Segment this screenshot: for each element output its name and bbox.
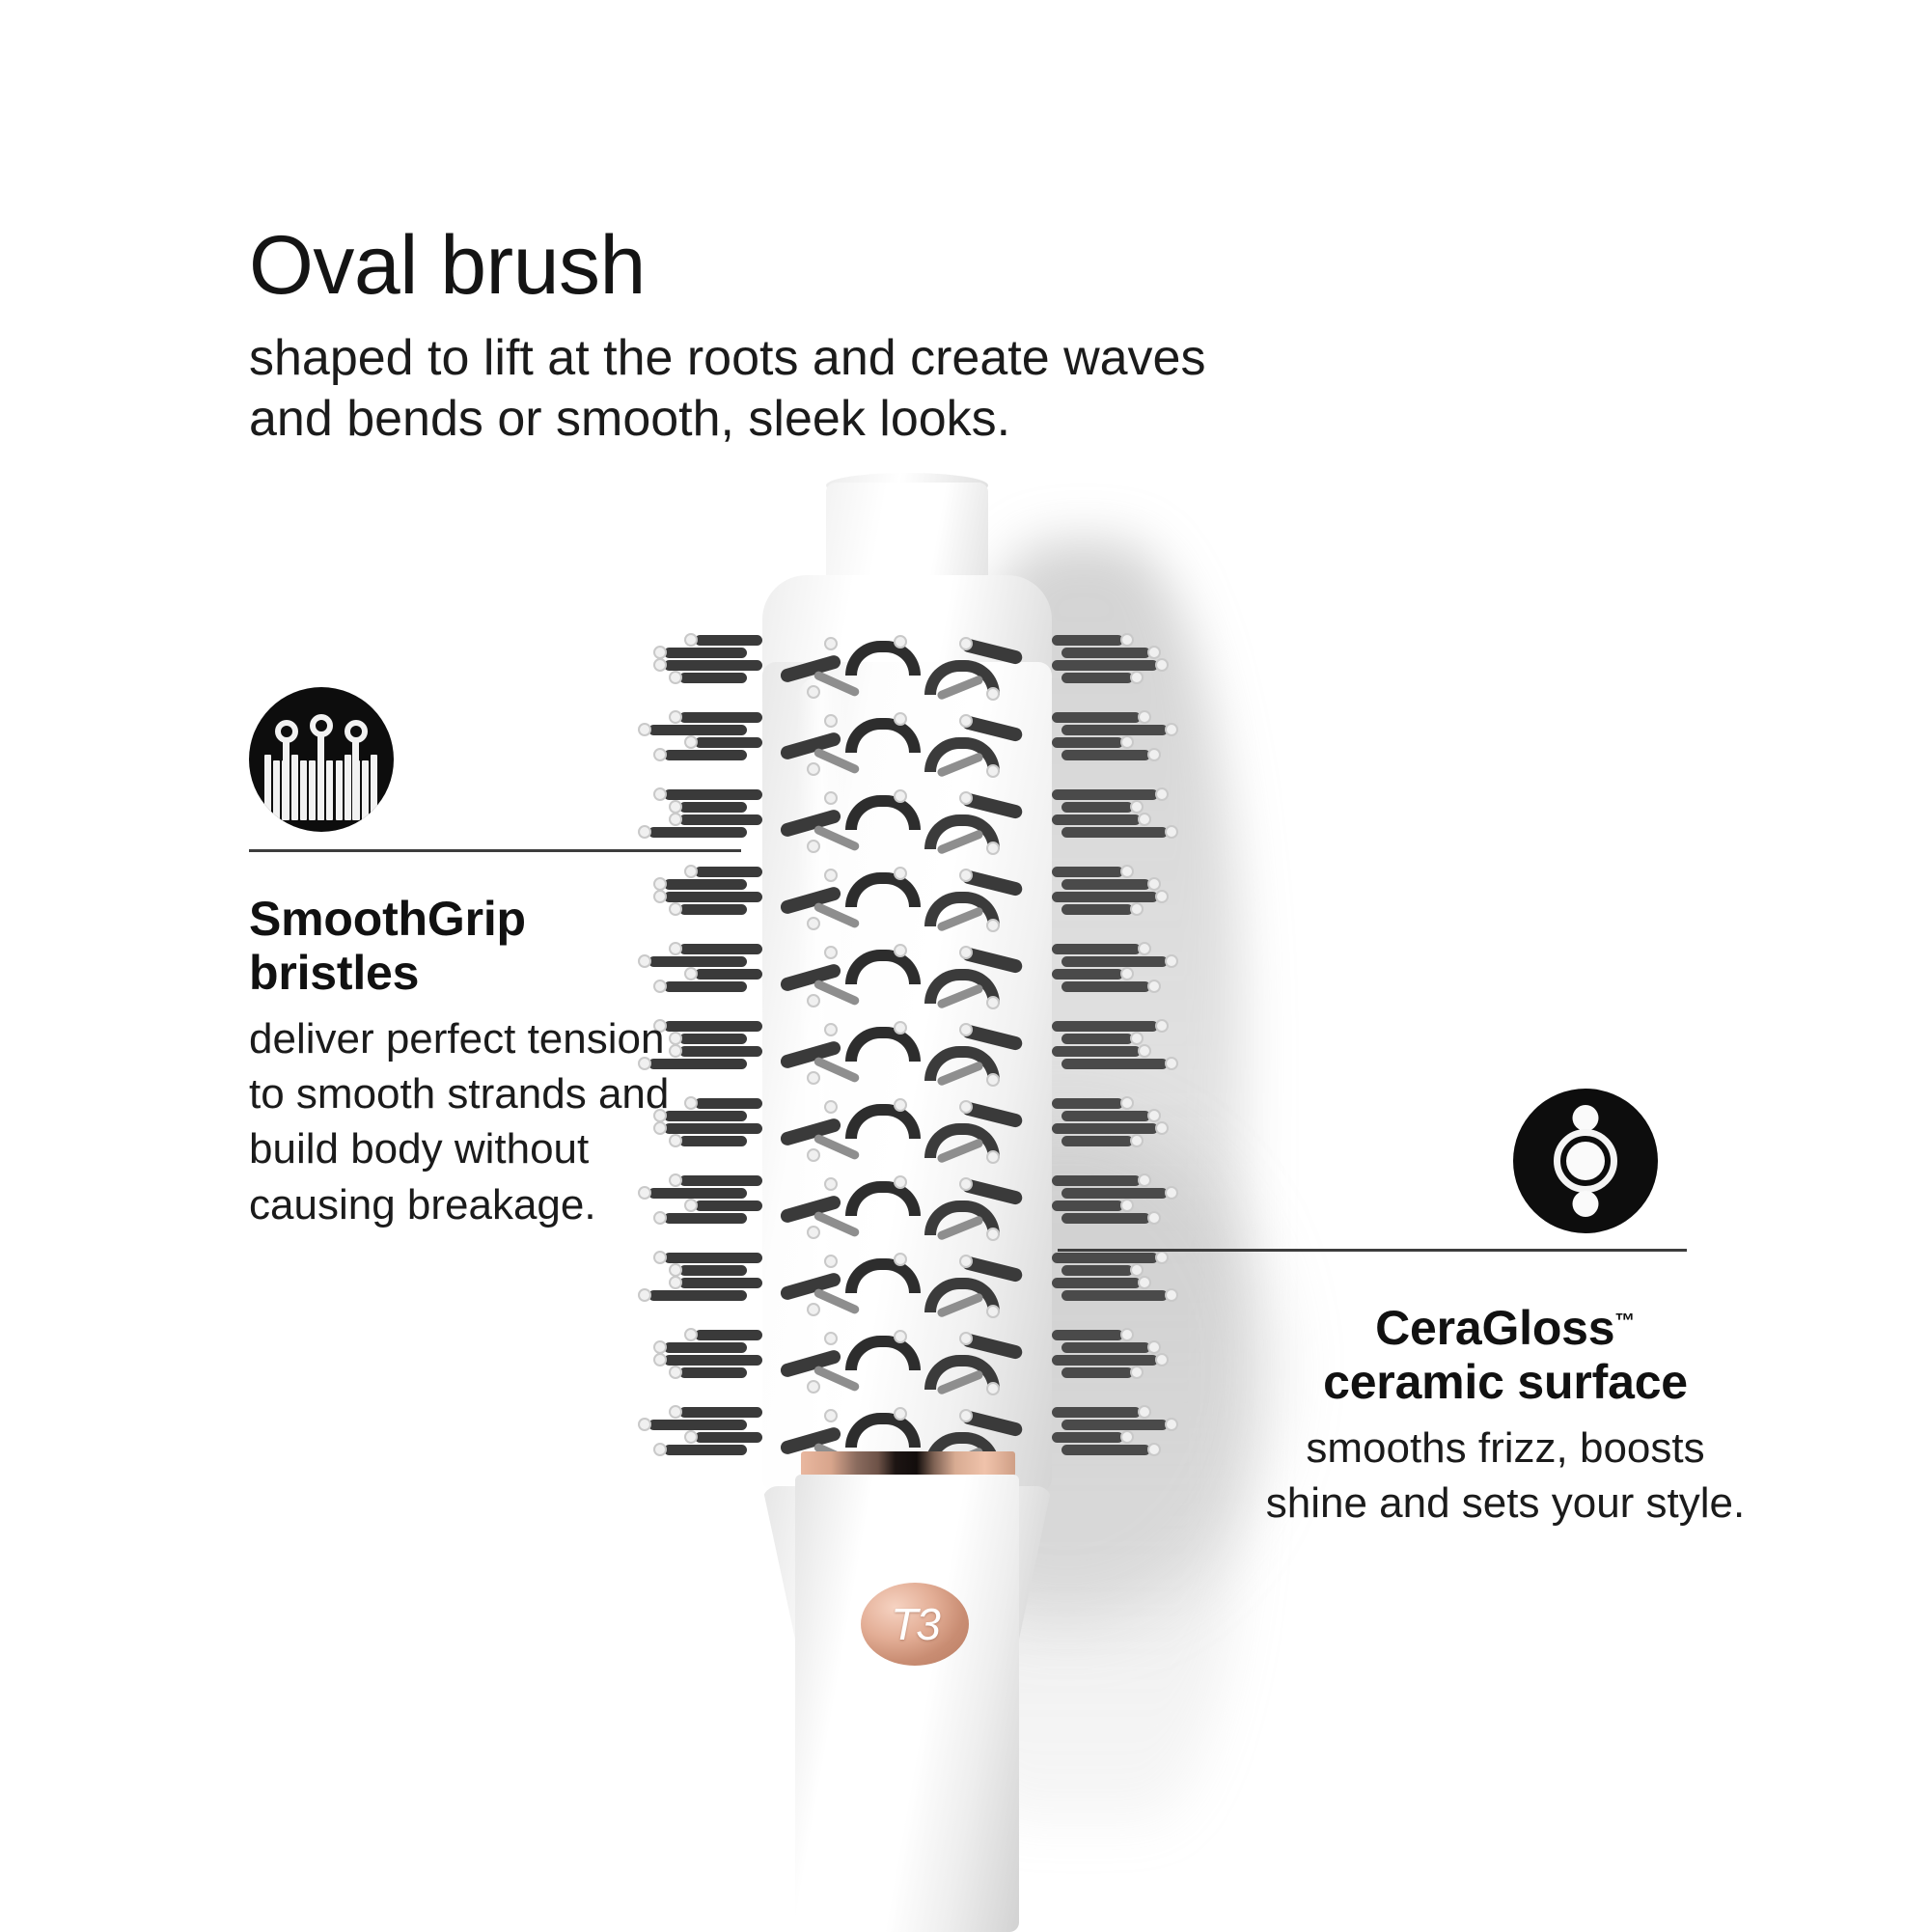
bristle-icon-pin-stem: [317, 731, 324, 820]
bristle-element: [669, 1405, 682, 1419]
bristle-element: [1165, 1418, 1178, 1431]
feature-smoothgrip-body-line-4: causing breakage.: [249, 1177, 703, 1232]
bristle-icon-pin-stem: [283, 737, 289, 820]
bristle-element: [845, 1413, 921, 1448]
bristle-element: [807, 1226, 820, 1239]
feature-ceragloss-heading: CeraGloss™ ceramic surface: [1235, 1301, 1776, 1409]
bristle-element: [986, 1228, 1000, 1241]
bristle-element: [679, 673, 747, 683]
bristle-element: [1165, 954, 1178, 968]
bristle-element: [679, 1265, 747, 1276]
bristle-element: [1052, 737, 1123, 748]
feature-smoothgrip-body-line-3: build body without: [249, 1121, 703, 1176]
bristle-element: [986, 687, 1000, 701]
bristle-element: [1155, 890, 1169, 903]
bristle-element: [807, 762, 820, 776]
bristle-element: [1061, 1367, 1133, 1378]
bristle-element: [1138, 1405, 1151, 1419]
bristle-element: [679, 1278, 762, 1288]
bristle-element: [695, 1432, 762, 1443]
bristle-element: [1147, 646, 1161, 659]
bristle-element: [845, 1336, 921, 1370]
feature-ceragloss-body-line-1: smooths frizz, boosts: [1235, 1421, 1776, 1476]
bristle-element: [986, 1073, 1000, 1087]
bristle-element: [695, 737, 762, 748]
bristle-element: [824, 1100, 838, 1114]
bristle-element: [807, 840, 820, 853]
bristle-element: [807, 917, 820, 930]
bristle-element: [1138, 942, 1151, 955]
bristle-icon-ball-tip: [275, 720, 298, 743]
bristle-element: [664, 1355, 762, 1366]
bristle-element: [1130, 1134, 1144, 1147]
feature-smoothgrip-body: deliver perfect tension to smooth strand…: [249, 1011, 703, 1232]
bristle-element: [1052, 867, 1123, 877]
bristle-element: [1130, 800, 1144, 814]
bristle-element: [1061, 1265, 1133, 1276]
bristle-element: [894, 712, 907, 726]
bristle-icon-pin-stem: [352, 737, 359, 820]
bristle-element: [679, 1367, 747, 1378]
bristle-element: [894, 1407, 907, 1421]
bristle-element: [1061, 1188, 1168, 1199]
bristle-element: [1138, 1276, 1151, 1289]
bristle-icon-stem: [309, 760, 316, 820]
bristle-element: [824, 1332, 838, 1345]
bristle-element: [653, 1443, 667, 1456]
bristle-element: [845, 872, 921, 907]
bristle-element: [1052, 1330, 1123, 1340]
bristle-element: [1052, 1046, 1141, 1057]
bristle-element: [824, 1177, 838, 1191]
bristle-icon-stem: [345, 755, 351, 820]
bristle-element: [1155, 1251, 1169, 1264]
feature-smoothgrip: SmoothGrip bristles deliver perfect tens…: [249, 687, 703, 1232]
bristle-element: [653, 658, 667, 672]
bristle-element: [695, 969, 762, 980]
bristle-element: [824, 791, 838, 805]
bristle-element: [1052, 1432, 1123, 1443]
bristle-element: [695, 635, 762, 646]
bristle-element: [1120, 1328, 1134, 1341]
ceramic-icon-center-ring: [1554, 1129, 1617, 1193]
bristle-icon-stem: [264, 755, 271, 820]
bristle-element: [664, 1342, 747, 1353]
bristle-element: [894, 1253, 907, 1266]
bristle-element: [695, 1201, 762, 1211]
bristle-element: [1165, 1186, 1178, 1200]
bristle-element: [1147, 1340, 1161, 1354]
bristle-icon: [249, 687, 394, 832]
bristle-element: [684, 1430, 698, 1444]
bristle-element: [894, 1098, 907, 1112]
bristle-element: [638, 1418, 651, 1431]
feature-ceragloss-body-line-2: shine and sets your style.: [1235, 1476, 1776, 1531]
bristle-element: [1138, 710, 1151, 724]
bristle-element: [1061, 1059, 1168, 1069]
ceramic-ring-icon: [1513, 1089, 1658, 1233]
bristle-element: [1155, 658, 1169, 672]
trademark-symbol: ™: [1614, 1310, 1636, 1332]
bristle-element: [959, 1409, 973, 1422]
feature-ceragloss-heading-line-1: CeraGloss™: [1235, 1301, 1776, 1355]
bristle-element: [1052, 1175, 1141, 1186]
bristle-element: [648, 1420, 747, 1430]
bristle-element: [1052, 892, 1158, 902]
bristle-element: [669, 1263, 682, 1277]
bristle-element: [1120, 633, 1134, 647]
bristle-element: [959, 1255, 973, 1268]
bristle-element: [1061, 904, 1133, 915]
bristle-element: [1120, 865, 1134, 878]
bristle-element: [1120, 1199, 1134, 1212]
bristle-element: [664, 1253, 762, 1263]
feature-smoothgrip-body-line-2: to smooth strands and: [249, 1066, 703, 1121]
bristle-element: [959, 946, 973, 959]
bristle-element: [845, 641, 921, 676]
bristle-element: [845, 718, 921, 753]
bristle-element: [986, 1150, 1000, 1164]
rose-gold-band: [801, 1451, 1015, 1477]
ceramic-ring-icon-art: [1513, 1089, 1658, 1233]
bristle-element: [1147, 980, 1161, 993]
bristle-element: [1061, 1034, 1133, 1044]
bristle-element: [959, 714, 973, 728]
feature-smoothgrip-heading-line-1: SmoothGrip: [249, 892, 703, 946]
feature-smoothgrip-heading: SmoothGrip bristles: [249, 892, 703, 1000]
bristle-icon-stem: [326, 760, 333, 820]
bristle-element: [1061, 827, 1168, 838]
bristle-element: [1061, 725, 1168, 735]
infographic-canvas: T3 Oval brush shaped to lift at the root…: [0, 0, 1930, 1930]
bristle-element: [824, 637, 838, 650]
header-block: Oval brush shaped to lift at the roots a…: [249, 224, 1310, 451]
bristle-element: [986, 1382, 1000, 1395]
bristle-element: [653, 1251, 667, 1264]
feature-smoothgrip-heading-line-2: bristles: [249, 946, 703, 1000]
bristle-element: [986, 996, 1000, 1009]
bristle-element: [638, 1288, 651, 1302]
bristle-element: [669, 671, 682, 684]
bristle-element: [684, 633, 698, 647]
bristle-element: [959, 1332, 973, 1345]
bristle-element: [1165, 1288, 1178, 1302]
bristle-element: [1061, 1420, 1168, 1430]
bristle-element: [845, 1104, 921, 1139]
ceramic-icon-dot-top: [1573, 1105, 1599, 1131]
ceramic-icon-dot-bottom: [1573, 1191, 1599, 1217]
bristle-element: [1147, 1443, 1161, 1456]
bristle-element: [824, 1023, 838, 1036]
bristle-element: [1052, 944, 1141, 954]
bristle-element: [894, 944, 907, 957]
bristle-element: [1052, 1021, 1158, 1032]
bristle-icon-art: [249, 687, 394, 832]
bristle-element: [1147, 1211, 1161, 1225]
bristle-element: [894, 635, 907, 649]
bristle-element: [1052, 969, 1123, 980]
bristle-element: [959, 1100, 973, 1114]
page-title: Oval brush: [249, 224, 1310, 307]
bristle-element: [679, 1407, 762, 1418]
bristle-element: [1138, 1044, 1151, 1058]
bristle-element: [1130, 1366, 1144, 1379]
bristle-element: [1061, 802, 1133, 813]
bristle-element: [1155, 787, 1169, 801]
feature-ceragloss-body: smooths frizz, boosts shine and sets you…: [1235, 1421, 1776, 1531]
bristle-element: [1052, 660, 1158, 671]
bristle-element: [653, 1340, 667, 1354]
bristle-element: [1052, 1278, 1141, 1288]
bristle-element: [894, 789, 907, 803]
bristle-element: [664, 1445, 747, 1455]
bristle-element: [807, 1071, 820, 1085]
bristle-element: [1147, 748, 1161, 761]
bristle-element: [1061, 981, 1150, 992]
bristle-element: [1147, 877, 1161, 891]
bristle-element: [1061, 879, 1150, 890]
bristle-element: [807, 1148, 820, 1162]
feature-ceragloss: CeraGloss™ ceramic surface smooths frizz…: [1235, 1089, 1776, 1531]
bristle-element: [959, 1023, 973, 1036]
bristle-element: [1052, 789, 1158, 800]
bristle-element: [1061, 956, 1168, 967]
bristle-element: [824, 714, 838, 728]
bristle-element: [824, 869, 838, 882]
bristle-element: [1061, 1445, 1150, 1455]
bristle-element: [1138, 1173, 1151, 1187]
t3-logo-text: T3: [891, 1602, 939, 1646]
bristle-element: [1155, 1121, 1169, 1135]
subtitle-line-1: shaped to lift at the roots and create w…: [249, 328, 1272, 389]
bristle-element: [1061, 648, 1150, 658]
bristle-element: [1165, 723, 1178, 736]
bristle-element: [1052, 1407, 1141, 1418]
bristle-element: [807, 994, 820, 1007]
brush-handle: [795, 1475, 1019, 1932]
bristle-element: [1061, 1213, 1150, 1224]
bristle-element: [1061, 673, 1133, 683]
bristle-element: [1061, 750, 1150, 760]
bristle-icon-stem: [273, 760, 280, 820]
subtitle-line-2: and bends or smooth, sleek looks.: [249, 389, 1272, 450]
bristle-element: [845, 950, 921, 984]
bristle-element: [1061, 1290, 1168, 1301]
bristle-element: [1130, 1032, 1144, 1045]
bristle-element: [664, 660, 762, 671]
bristle-element: [1138, 813, 1151, 826]
bristle-element: [653, 1353, 667, 1366]
t3-brand-logo: T3: [861, 1583, 969, 1666]
bristle-element: [845, 1027, 921, 1062]
bristle-element: [1052, 1201, 1123, 1211]
bristle-element: [1165, 825, 1178, 839]
bristle-element: [894, 1021, 907, 1035]
bristle-element: [845, 795, 921, 830]
bristle-element: [959, 791, 973, 805]
bristle-element: [1052, 1355, 1158, 1366]
bristle-element: [894, 867, 907, 880]
bristle-element: [1120, 1430, 1134, 1444]
bristle-element: [894, 1175, 907, 1189]
bristle-element: [1052, 1098, 1123, 1109]
bristle-element: [669, 1366, 682, 1379]
bristle-element: [695, 867, 762, 877]
bristle-element: [1120, 967, 1134, 980]
bristle-element: [1120, 1096, 1134, 1110]
bristle-element: [845, 1258, 921, 1293]
bristle-element: [1061, 1111, 1150, 1121]
bristle-icon-stem: [336, 760, 343, 820]
bristle-element: [894, 1330, 907, 1343]
bristle-element: [824, 1409, 838, 1422]
bristle-element: [807, 1380, 820, 1394]
bristle-element: [695, 1330, 762, 1340]
bristle-element: [1155, 1353, 1169, 1366]
bristle-element: [1052, 814, 1141, 825]
bristle-element: [986, 842, 1000, 855]
bristle-element: [807, 685, 820, 699]
feature-smoothgrip-body-line-1: deliver perfect tension: [249, 1011, 703, 1066]
bristle-element: [669, 1276, 682, 1289]
bristle-element: [986, 1305, 1000, 1318]
bristle-element: [845, 1181, 921, 1216]
bristle-element: [1147, 1109, 1161, 1122]
page-subtitle: shaped to lift at the roots and create w…: [249, 328, 1272, 451]
feature-ceragloss-heading-line-2: ceramic surface: [1235, 1355, 1776, 1409]
bristle-element: [1052, 1253, 1158, 1263]
bristle-element: [807, 1303, 820, 1316]
feature-ceragloss-heading-main: CeraGloss: [1375, 1301, 1614, 1355]
bristle-element: [695, 1098, 762, 1109]
bristle-icon-stem: [371, 755, 377, 820]
bristle-element: [1061, 1342, 1150, 1353]
bristle-icon-stem: [291, 755, 298, 820]
bristle-element: [1130, 902, 1144, 916]
bristle-element: [824, 946, 838, 959]
bristle-element: [653, 646, 667, 659]
bristle-element: [1155, 1019, 1169, 1033]
bristle-element: [1120, 735, 1134, 749]
bristle-element: [1052, 712, 1141, 723]
bristle-element: [648, 1290, 747, 1301]
bristle-icon-stem: [300, 760, 307, 820]
bristle-element: [1061, 1136, 1133, 1146]
bristle-element: [1130, 671, 1144, 684]
bristle-element: [1130, 1263, 1144, 1277]
bristle-element: [1052, 1123, 1158, 1134]
bristle-element: [986, 764, 1000, 778]
bristle-icon-ball-tip: [310, 714, 333, 737]
bristle-icon-stem: [362, 760, 369, 820]
bristle-element: [959, 637, 973, 650]
bristle-element: [1052, 635, 1123, 646]
bristle-element: [664, 648, 747, 658]
bristle-icon-ball-tip: [345, 720, 368, 743]
bristle-element: [1165, 1057, 1178, 1070]
bristle-element: [684, 1328, 698, 1341]
bristle-element: [959, 869, 973, 882]
bristle-element: [959, 1177, 973, 1191]
bristle-element: [824, 1255, 838, 1268]
bristle-element: [986, 919, 1000, 932]
